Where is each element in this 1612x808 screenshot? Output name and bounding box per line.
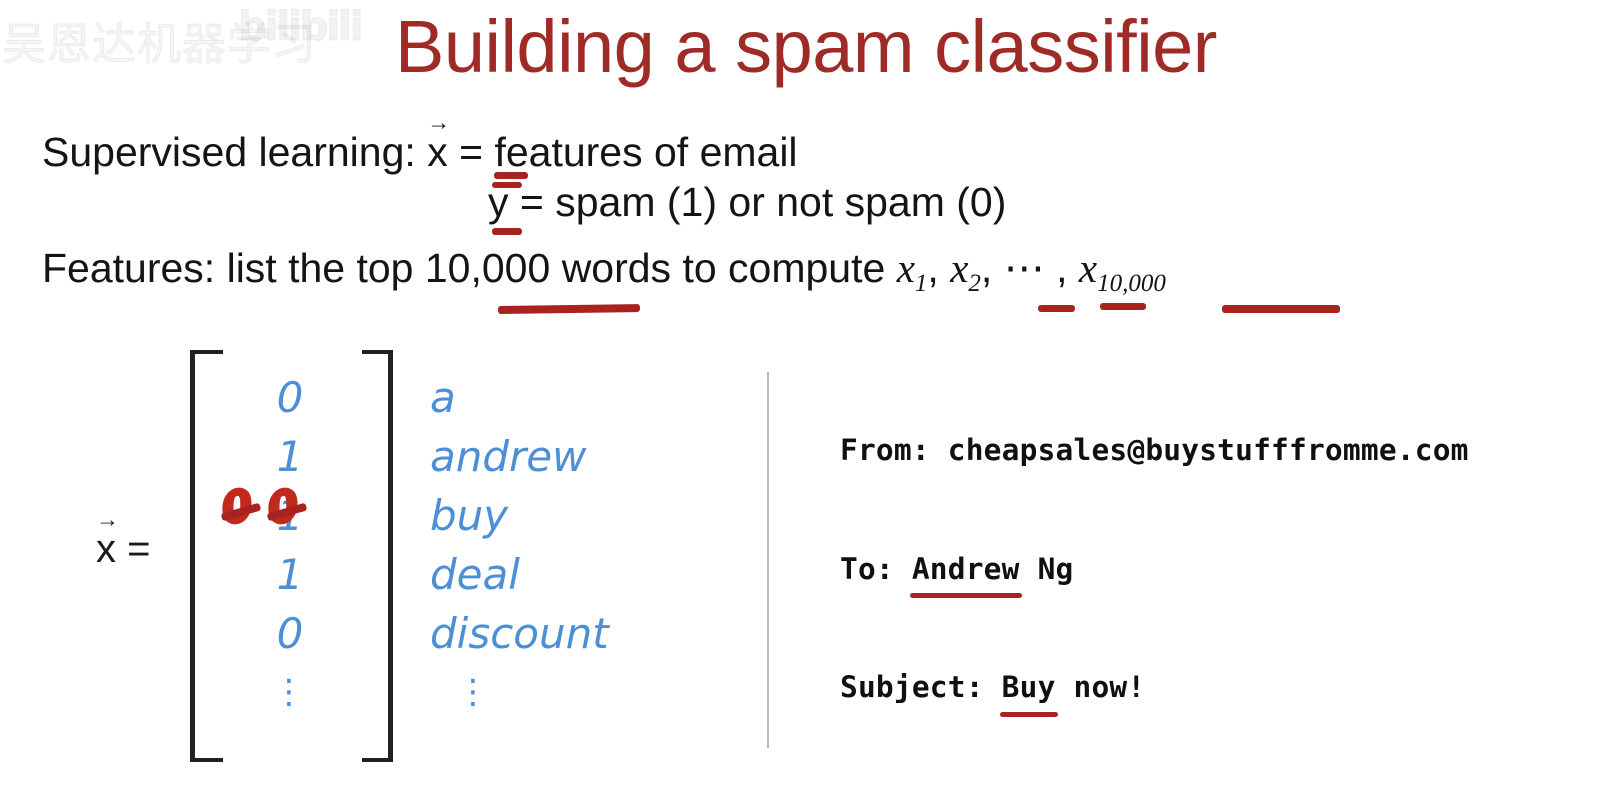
red-overline-y <box>492 182 522 188</box>
vector-entries-column: 0 1 1 1 0 ⋮ <box>245 368 335 722</box>
supervised-learning-line: Supervised learning: → x = features of e… <box>42 130 798 173</box>
vector-x-symbol: → x <box>96 527 116 569</box>
vector-arrow-icon: → <box>427 117 447 128</box>
x-vector-symbol: → x <box>427 130 448 173</box>
equals-sign: = <box>127 527 150 571</box>
page-title: Building a spam classifier <box>0 10 1612 84</box>
matrix-bracket-left <box>190 350 223 762</box>
email-to-name-underlined: Andrew <box>912 550 1020 590</box>
x-definition-text: = features of email <box>459 129 797 175</box>
features-count-value: 10,000 <box>425 245 550 291</box>
features-middle-text: words to compute <box>562 245 886 291</box>
red-underline-y <box>492 228 522 235</box>
feature-word: buy <box>430 486 609 545</box>
feature-words-column: a andrew buy deal discount ⋮ <box>430 368 609 722</box>
email-to-row: To: Andrew Ng <box>840 550 1469 590</box>
vector-entry: 0 <box>245 368 335 427</box>
red-underline-10000 <box>498 304 640 314</box>
feature-word: deal <box>430 545 609 604</box>
email-from-label: From: <box>840 433 948 467</box>
vector-equation-label: → x = <box>96 527 150 569</box>
vector-entry: 1 <box>245 427 335 486</box>
feature-word: a <box>430 368 609 427</box>
email-sample-panel: From: cheapsales@buystufffromme.com To: … <box>840 352 1469 808</box>
feature-word-ellipsis: ⋮ <box>430 663 609 722</box>
vector-entry-ellipsis: ⋮ <box>245 663 335 722</box>
feature-var-2: x <box>950 245 968 291</box>
email-subject-word-underlined: Buy <box>1002 668 1056 708</box>
email-to-label: To: <box>840 552 912 586</box>
email-from-address: cheapsales@buystufffromme.com <box>948 433 1469 467</box>
label-y-line: y = spam (1) or not spam (0) <box>488 182 1006 223</box>
vector-entry: 1 <box>245 545 335 604</box>
matrix-bracket-right <box>362 350 393 762</box>
vector-entry: 0 <box>245 604 335 663</box>
feature-var-1: x <box>897 245 915 291</box>
feature-var-n: x <box>1079 245 1097 291</box>
red-underline-x1 <box>1038 305 1075 312</box>
email-subject-label: Subject: <box>840 670 1002 704</box>
feature-word: discount <box>430 604 609 663</box>
red-underline-x <box>494 172 528 179</box>
y-definition-text: = spam (1) or not spam (0) <box>520 179 1006 225</box>
feature-var-1-subscript: 1 <box>915 270 928 297</box>
email-to-rest: Ng <box>1020 552 1074 586</box>
vector-arrow-icon: → <box>96 514 115 525</box>
feature-ellipsis: , ⋯ , <box>981 245 1068 291</box>
slide-canvas: 吴恩达机器学习 bilibili Building a spam classif… <box>0 0 1612 808</box>
supervised-learning-label: Supervised learning: <box>42 129 416 175</box>
feature-var-n-subscript: 10,000 <box>1097 270 1166 297</box>
email-blank-row <box>840 787 1469 808</box>
red-underline-xn <box>1222 305 1340 313</box>
x-symbol-letter: x <box>427 129 448 175</box>
feature-sep-1: , <box>927 245 938 291</box>
feature-word: andrew <box>430 427 609 486</box>
feature-var-2-subscript: 2 <box>968 270 981 297</box>
features-prefix-text: Features: list the top <box>42 245 413 291</box>
vertical-divider <box>767 372 769 748</box>
email-subject-row: Subject: Buy now! <box>840 668 1469 708</box>
vector-x-letter: x <box>96 527 116 571</box>
features-line: Features: list the top 10,000 words to c… <box>42 248 1166 296</box>
red-underline-x2 <box>1100 303 1146 310</box>
email-subject-rest: now! <box>1056 670 1146 704</box>
email-from-row: From: cheapsales@buystufffromme.com <box>840 431 1469 471</box>
